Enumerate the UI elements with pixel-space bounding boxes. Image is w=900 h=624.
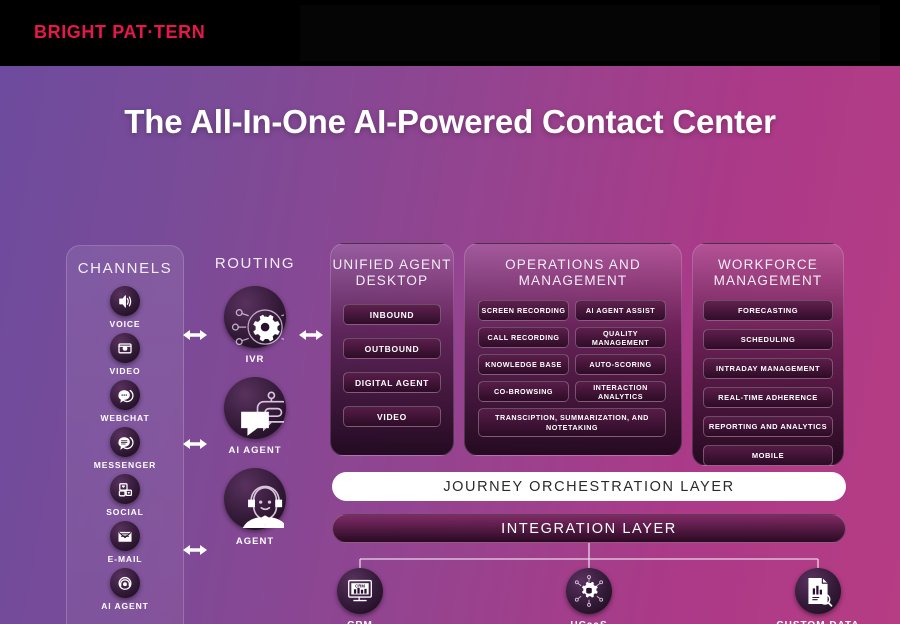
ops-chip[interactable]: CALL RECORDING (478, 327, 569, 348)
envelope-icon (115, 526, 135, 546)
ops-chip[interactable]: AI AGENT ASSIST (575, 300, 666, 321)
channels-title: CHANNELS (67, 261, 183, 277)
routing-item[interactable]: AGENT (196, 468, 314, 547)
gear-network-icon (226, 288, 284, 346)
infographic-root: BRIGHT PAT·TERN The All-In-One AI-Powere… (0, 0, 900, 624)
uad-chip[interactable]: OUTBOUND (343, 338, 441, 359)
channel-item[interactable]: SOCIAL (67, 474, 183, 517)
integration-node[interactable]: CUSTOM DATA (758, 568, 878, 624)
uad-chip[interactable]: DIGITAL AGENT (343, 372, 441, 393)
channel-item[interactable]: VIDEO (67, 333, 183, 376)
wfm-chip[interactable]: MOBILE (703, 445, 833, 466)
channel-icon-wrapper (110, 380, 140, 410)
channel-icon-wrapper (110, 568, 140, 598)
channel-icon-wrapper (110, 474, 140, 504)
crm-monitor-icon: CRM (340, 571, 380, 611)
ops-chip[interactable]: SCREEN RECORDING (478, 300, 569, 321)
channel-item[interactable]: AI AGENT (67, 568, 183, 611)
ops-chip[interactable]: KNOWLEDGE BASE (478, 354, 569, 375)
wfm-chip[interactable]: FORECASTING (703, 300, 833, 321)
header-inner-panel (300, 5, 880, 61)
channel-icon-wrapper (110, 427, 140, 457)
integration-node[interactable]: CRMCRM (300, 568, 420, 624)
unified-agent-desktop-items: INBOUNDOUTBOUNDDIGITAL AGENTVIDEO (331, 304, 453, 427)
channel-icon-wrapper (110, 521, 140, 551)
unified-agent-desktop-panel: UNIFIED AGENT DESKTOP INBOUNDOUTBOUNDDIG… (330, 243, 454, 456)
unified-agent-desktop-title: UNIFIED AGENT DESKTOP (331, 257, 453, 288)
wfm-chip[interactable]: REAL-TIME ADHERENCE (703, 387, 833, 408)
routing-icon-wrapper (224, 286, 286, 348)
social-hearts-icon (115, 479, 135, 499)
operations-management-title: OPERATIONS AND MANAGEMENT (465, 257, 681, 288)
megaphone-icon (115, 291, 135, 311)
wfm-chip[interactable]: INTRADAY MANAGEMENT (703, 358, 833, 379)
uad-chip[interactable]: VIDEO (343, 406, 441, 427)
routing-column: ROUTING IVRAI AGENTAGENT (196, 256, 314, 624)
integration-layer[interactable]: INTEGRATION LAYER (332, 514, 846, 543)
routing-label: AI AGENT (228, 445, 281, 456)
wfm-chip[interactable]: REPORTING AND ANALYTICS (703, 416, 833, 437)
video-icon (115, 338, 135, 358)
channel-label: AI AGENT (101, 601, 149, 611)
arrow-channels-to-routing-3 (182, 543, 208, 557)
arrow-channels-to-routing-2 (182, 437, 208, 451)
channel-label: SOCIAL (106, 507, 144, 517)
ops-chip[interactable]: CO-BROWSING (478, 381, 569, 402)
document-chart-icon (798, 571, 838, 611)
channel-icon-wrapper (110, 333, 140, 363)
channel-item[interactable]: WEBCHAT (67, 380, 183, 423)
routing-list: IVRAI AGENTAGENT (196, 286, 314, 547)
chat-bubble-icon (115, 385, 135, 405)
channel-item[interactable]: VOICE (67, 286, 183, 329)
wfm-chip[interactable]: SCHEDULING (703, 329, 833, 350)
integration-icon-wrapper (566, 568, 612, 614)
routing-icon-wrapper (224, 377, 286, 439)
channels-panel: CHANNELS VOICEVIDEOWEBCHATMESSENGERSOCIA… (66, 245, 184, 624)
diagram-stage: The All-In-One AI-Powered Contact Center… (0, 66, 900, 624)
svg-text:CRM: CRM (355, 584, 365, 589)
routing-item[interactable]: IVR (196, 286, 314, 365)
routing-item[interactable]: AI AGENT (196, 377, 314, 456)
routing-title: ROUTING (196, 256, 314, 272)
integration-icon-wrapper: CRM (337, 568, 383, 614)
routing-label: AGENT (236, 536, 274, 547)
channel-label: E-MAIL (108, 554, 143, 564)
ops-chip[interactable]: INTERACTION ANALYTICS (575, 381, 666, 402)
channel-item[interactable]: MESSENGER (67, 427, 183, 470)
channel-label: VOICE (110, 319, 141, 329)
messenger-icon (115, 432, 135, 452)
channel-label: VIDEO (110, 366, 141, 376)
uad-chip[interactable]: INBOUND (343, 304, 441, 325)
routing-label: IVR (246, 354, 265, 365)
ucaas-network-icon (569, 571, 609, 611)
channel-item[interactable]: E-MAIL (67, 521, 183, 564)
integration-label: UCaaS (570, 620, 607, 624)
ops-chip[interactable]: AUTO-SCORING (575, 354, 666, 375)
arrow-channels-to-routing-1 (182, 328, 208, 342)
brand-logo[interactable]: BRIGHT PAT·TERN (34, 22, 205, 43)
routing-icon-wrapper (224, 468, 286, 530)
bot-chat-icon (226, 379, 284, 437)
workforce-management-title: WORKFORCE MANAGEMENT (693, 257, 843, 288)
channel-icon-wrapper (110, 286, 140, 316)
channel-label: MESSENGER (94, 460, 156, 470)
channels-list: VOICEVIDEOWEBCHATMESSENGERSOCIALE-MAILAI… (67, 286, 183, 611)
ops-chip-wide[interactable]: TRANSCIPTION, SUMMARIZATION, AND NOTETAK… (478, 408, 666, 437)
page-header: BRIGHT PAT·TERN (0, 0, 900, 66)
arrow-routing-to-desktop (298, 328, 324, 342)
person-headset-icon (226, 470, 284, 528)
operations-management-panel: OPERATIONS AND MANAGEMENT SCREEN RECORDI… (464, 243, 682, 456)
journey-orchestration-layer[interactable]: JOURNEY ORCHESTRATION LAYER (332, 472, 846, 501)
channel-label: WEBCHAT (100, 413, 149, 423)
integration-label: CUSTOM DATA (776, 620, 859, 624)
operations-management-items: SCREEN RECORDINGAI AGENT ASSISTCALL RECO… (465, 300, 681, 437)
integration-label: CRM (347, 620, 373, 624)
workforce-management-panel: WORKFORCE MANAGEMENT FORECASTINGSCHEDULI… (692, 243, 844, 466)
integration-node[interactable]: UCaaS (529, 568, 649, 624)
workforce-management-items: FORECASTINGSCHEDULINGINTRADAY MANAGEMENT… (693, 300, 843, 466)
headset-bot-icon (115, 573, 135, 593)
integration-icon-wrapper (795, 568, 841, 614)
page-title: The All-In-One AI-Powered Contact Center (0, 103, 900, 141)
ops-chip[interactable]: QUALITY MANAGEMENT (575, 327, 666, 348)
integration-nodes: CRMCRMUCaaSCUSTOM DATA (332, 568, 846, 624)
